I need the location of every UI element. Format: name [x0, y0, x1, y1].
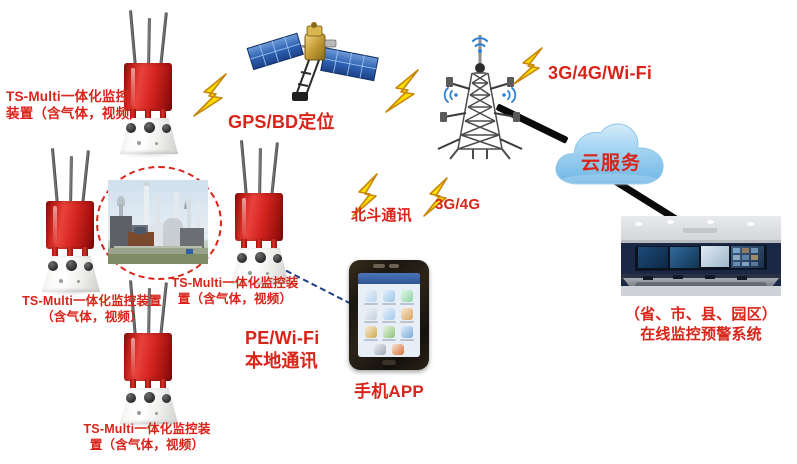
label-gps: GPS/BD定位	[228, 111, 335, 134]
app-screen[interactable]	[358, 273, 420, 357]
label-device-bottom: TS-Multi一体化监控装 置（含气体，视频）	[68, 421, 226, 453]
label-device-mid-left: TS-Multi一体化监控装置 （含气体，视频）	[2, 293, 182, 325]
label-3g4g: 3G/4G	[435, 195, 480, 214]
label-local-comm: PE/Wi-Fi 本地通讯	[245, 327, 319, 373]
label-device-mid-right: TS-Multi一体化监控装 置（含气体，视频）	[162, 275, 308, 307]
handheld-app-device[interactable]	[349, 260, 429, 370]
label-control-center: （省、市、县、园区） 在线监控预警系统	[601, 305, 797, 346]
monitoring-center-photo	[621, 216, 781, 296]
communication-tower-icon	[428, 17, 532, 160]
ts-multi-device-mid-right[interactable]	[215, 140, 301, 288]
label-3g4g-wifi: 3G/4G/Wi-Fi	[548, 62, 652, 85]
label-beidou: 北斗通讯	[351, 206, 412, 225]
label-device-top-left: TS-Multi一体化监控 装置（含气体，视频）	[6, 88, 143, 123]
cloud-service-icon: 云服务	[546, 118, 676, 196]
diagram-canvas: 云服务	[0, 0, 797, 464]
chemical-plant-photo	[108, 180, 208, 264]
ts-multi-device-mid-left[interactable]	[26, 148, 112, 296]
cloud-label: 云服务	[546, 148, 676, 175]
bolt-satellite-to-tower	[378, 68, 440, 116]
label-phone-app: 手机APP	[330, 381, 448, 403]
satellite-icon	[243, 6, 383, 104]
ts-multi-device-top-left[interactable]	[104, 10, 190, 158]
